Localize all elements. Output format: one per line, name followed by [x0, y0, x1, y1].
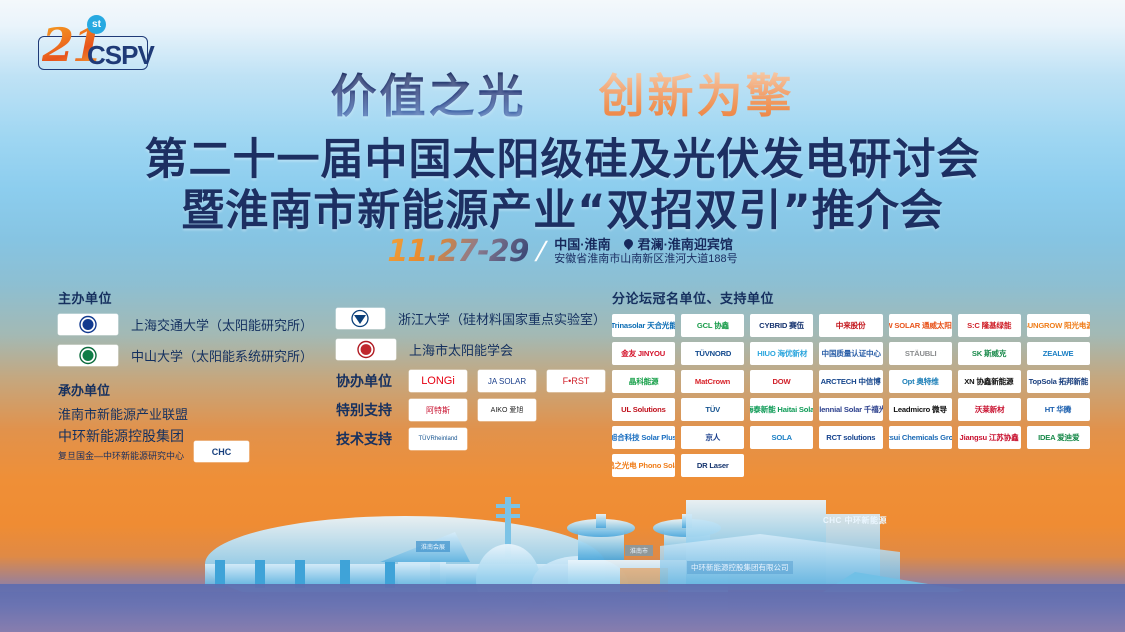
organizer-name: 浙江大学（硅材料国家重点实验室）: [398, 309, 606, 328]
sponsor-logo-tile: Opt 奥特维: [889, 370, 952, 393]
slogan: 价值之光 创新为擎: [0, 60, 1125, 126]
support-row-technical: 技术支持 TÜVRheinland: [336, 428, 606, 450]
longi-logo-text: LONGi: [421, 375, 455, 387]
sysu-seal-icon: [58, 345, 118, 366]
organizer-name: 上海市太阳能学会: [409, 340, 513, 359]
organizer-row: 浙江大学（硅材料国家重点实验室）: [336, 308, 606, 329]
chc-building-label: 中环新能源控股集团有限公司: [687, 561, 793, 574]
sponsor-logo-tile: MatCrown: [681, 370, 744, 393]
sponsors-heading: 分论坛冠名单位、支持单位: [612, 288, 1090, 307]
ja-solar-logo-text: JA SOLAR: [488, 377, 526, 386]
support-row-label: 协办单位: [336, 371, 398, 391]
water-reflection: [0, 584, 1125, 632]
sponsor-logo-tile: HT 华腾: [1027, 398, 1090, 421]
date-venue-separator: /: [533, 236, 550, 268]
support-row-label: 技术支持: [336, 429, 398, 449]
hosts-heading: 承办单位: [58, 380, 328, 399]
sponsor-logo-tile: GCL 协鑫: [681, 314, 744, 337]
sponsor-logo-tile: UL Solutions: [612, 398, 675, 421]
organizers-heading: 主办单位: [58, 288, 328, 307]
sponsor-logo-tile: 金友 JINYOU: [612, 342, 675, 365]
sponsor-logo-tile: S:C 隆基绿能: [958, 314, 1021, 337]
first-logo-icon: F•RST: [547, 370, 605, 392]
longi-logo-icon: LONGi: [409, 370, 467, 392]
sponsor-logo-tile: 中国质量认证中心: [819, 342, 882, 365]
sponsor-logo-grid: Trinasolar 天合光能 GCL 协鑫 CYBRID 赛伍 中来股份 TW…: [612, 314, 1090, 477]
slogan-right: 创新为擎: [599, 69, 795, 123]
organizer-row: 上海交通大学（太阳能研究所）: [58, 314, 328, 335]
coorganizers-column: 浙江大学（硅材料国家重点实验室） 上海市太阳能学会 协办单位 LONGi JA …: [336, 308, 606, 457]
aiko-logo-text: AIKO 爱旭: [491, 405, 524, 415]
sponsor-logo-tile: 中来股份: [819, 314, 882, 337]
conference-title-line2: 暨淮南市新能源产业“双招双引”推介会: [0, 176, 1125, 238]
organizer-name: 中山大学（太阳能系统研究所）: [131, 346, 313, 365]
organizer-row: 中山大学（太阳能系统研究所）: [58, 345, 328, 366]
sponsor-logo-tile: 旭合科技 Solar Plus: [612, 426, 675, 449]
sponsor-logo-tile: Mitsui Chemicals Group: [889, 426, 952, 449]
organizer-row: 上海市太阳能学会: [336, 339, 606, 360]
chc-building-logo: CHC 中环新能源: [823, 515, 887, 526]
host-name: 淮南市新能源产业联盟: [58, 404, 328, 423]
sses-seal-icon: [336, 339, 396, 360]
sponsor-logo-tile: 沃莱新材: [958, 398, 1021, 421]
slogan-left: 价值之光: [330, 69, 526, 123]
sponsor-logo-tile: TÜVNORD: [681, 342, 744, 365]
research-center-name: 复旦国金—中环新能源研究中心: [58, 449, 184, 462]
sponsor-logo-tile: SOLA: [750, 426, 813, 449]
sponsor-logo-tile: XN 协鑫新能源: [958, 370, 1021, 393]
sponsor-logo-tile: SK 斯威克: [958, 342, 1021, 365]
venue-line: 中国·淮南 君澜·淮南迎宾馆: [554, 237, 737, 253]
aiko-logo-icon: AIKO 爱旭: [478, 399, 536, 421]
event-city: 中国·淮南: [554, 237, 610, 253]
canadian-solar-logo-icon: 阿特斯: [409, 399, 467, 421]
ja-solar-logo-icon: JA SOLAR: [478, 370, 536, 392]
organizer-name: 上海交通大学（太阳能研究所）: [131, 315, 313, 334]
date-venue-bar: 11.27-29 / 中国·淮南 君澜·淮南迎宾馆 安徽省淮南市山南新区淮河大道…: [0, 234, 1125, 269]
canadian-solar-logo-text: 阿特斯: [426, 405, 450, 416]
event-venue: 君澜·淮南迎宾馆: [638, 237, 733, 253]
sponsor-logo-tile: HIUO 海优新材: [750, 342, 813, 365]
sjtu-seal-icon: [58, 314, 118, 335]
organizers-column: 主办单位 上海交通大学（太阳能研究所） 中山大学（太阳能系统研究所） 承办单位 …: [58, 288, 328, 462]
support-row-label: 特别支持: [336, 400, 398, 420]
tuv-rheinland-logo-icon: TÜVRheinland: [409, 428, 467, 450]
sponsor-logo-tile: Millennial Solar 千禧光能: [819, 398, 882, 421]
gate-label: 淮南市: [625, 545, 653, 556]
support-row-special: 特别支持 阿特斯 AIKO 爱旭: [336, 399, 606, 421]
first-logo-text: F•RST: [563, 376, 590, 386]
support-row-coorganizer: 协办单位 LONGi JA SOLAR F•RST: [336, 370, 606, 392]
event-dates: 11.27-29: [387, 234, 528, 269]
tuv-rheinland-logo-text: TÜVRheinland: [418, 436, 457, 442]
host-with-logo-row: 中环新能源控股集团 复旦国金—中环新能源研究中心 CHC: [58, 426, 328, 462]
sponsor-logo-tile: 晶科能源: [612, 370, 675, 393]
event-address: 安徽省淮南市山南新区淮河大道188号: [554, 253, 737, 267]
sponsor-logo-tile: ARCTECH 中信博: [819, 370, 882, 393]
sponsor-logo-tile: CYBRID 赛伍: [750, 314, 813, 337]
sponsor-logo-tile: RCT solutions: [819, 426, 882, 449]
sponsor-logo-tile: Jiangsu 江苏协鑫: [958, 426, 1021, 449]
cspv-ordinal-badge: st: [87, 15, 106, 34]
poster-canvas: 21 st CSPV 价值之光 创新为擎 第二十一届中国太阳级硅及光伏发电研讨会…: [0, 0, 1125, 632]
location-pin-icon: [624, 239, 633, 250]
sponsor-logo-tile: STÄUBLI: [889, 342, 952, 365]
zju-seal-icon: [336, 308, 385, 329]
sponsor-logo-tile: SUNGROW 阳光电源: [1027, 314, 1090, 337]
sponsor-logo-tile: IDEA 爱迪爱: [1027, 426, 1090, 449]
venue-block: 中国·淮南 君澜·淮南迎宾馆 安徽省淮南市山南新区淮河大道188号: [554, 237, 737, 267]
host-name: 中环新能源控股集团: [58, 426, 184, 446]
sponsor-logo-tile: 海泰新能 Haitai Solar: [750, 398, 813, 421]
sponsor-logo-tile: 京人: [681, 426, 744, 449]
sponsor-logo-tile: DOW: [750, 370, 813, 393]
sponsor-logo-tile: Leadmicro 微导: [889, 398, 952, 421]
city-skyline-illustration: 淮南会展 淮南市 CHC 中环新能源 中环新能源控股集团有限公司: [0, 472, 1125, 632]
sponsor-logo-tile: TÜV: [681, 398, 744, 421]
chc-logo-text: CHC: [212, 447, 232, 457]
sponsor-logo-tile: TW SOLAR 通威太阳能: [889, 314, 952, 337]
sponsor-logo-tile: TopSola 拓邦新能: [1027, 370, 1090, 393]
sponsor-logo-tile: Trinasolar 天合光能: [612, 314, 675, 337]
expo-center-label: 淮南会展: [416, 541, 450, 552]
sponsors-column: 分论坛冠名单位、支持单位 Trinasolar 天合光能 GCL 协鑫 CYBR…: [612, 288, 1090, 477]
chc-logo-icon: CHC: [194, 441, 249, 462]
sponsor-logo-tile: ZEALWE: [1027, 342, 1090, 365]
